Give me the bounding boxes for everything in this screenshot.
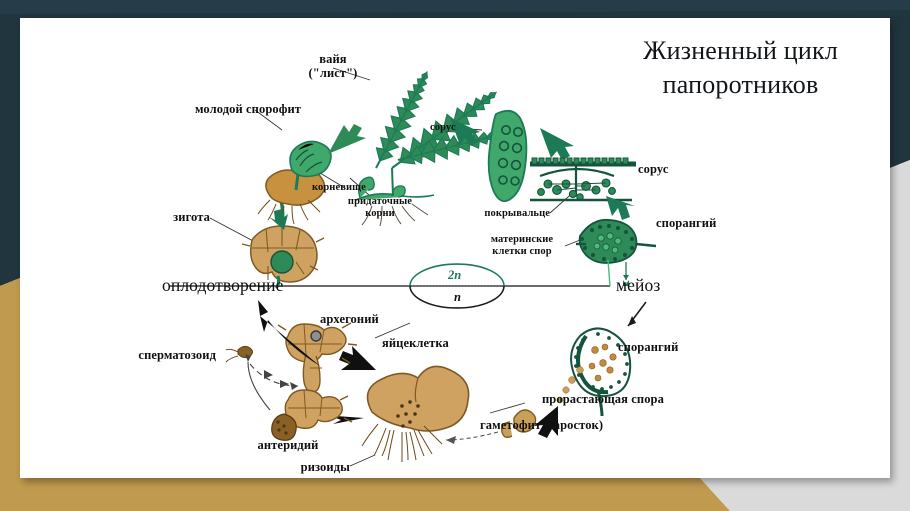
arrow-sporophyte-to-fern	[328, 124, 366, 154]
label-sporangium-right: спорангий	[618, 340, 678, 354]
slide-canvas: Жизненный цикл папоротников	[20, 18, 890, 478]
arrow-gametophyte-to-archegonium	[339, 346, 376, 370]
label-sorus-leaf: сорус	[430, 122, 456, 134]
gametophyte-prothallus	[331, 346, 469, 462]
label-vaya: вайя ("лист")	[309, 52, 358, 80]
label-spore-mother-cells: материнские клетки спор	[491, 234, 553, 258]
label-sorus-section: сорус	[638, 162, 669, 176]
label-zygote: зигота	[173, 210, 210, 224]
label-rhizome: корневище	[312, 182, 366, 194]
zygote-cell	[271, 251, 293, 273]
label-sporangium-top: спорангий	[656, 216, 716, 230]
ploidy-label-diploid: 2n	[448, 268, 461, 283]
life-cycle-illustration	[20, 18, 890, 478]
slide: Жизненный цикл папоротников	[0, 0, 910, 511]
antheridium	[272, 390, 352, 440]
label-antheridium: антеридий	[258, 438, 319, 452]
egg-cell-shape	[311, 331, 321, 341]
label-archegonium: архегоний	[320, 312, 379, 326]
label-meiosis: мейоз	[616, 276, 660, 296]
label-germinating-spore: прорастающая спора	[542, 392, 664, 406]
label-young-sporophyte: молодой спорофит	[195, 102, 301, 116]
ploidy-label-haploid: n	[454, 290, 461, 305]
label-gametophyte: гаметофит (заросток)	[480, 418, 603, 432]
label-adventitious-roots: придаточные корни	[348, 196, 412, 220]
label-fertilization: оплодотворение	[162, 276, 283, 296]
label-egg-cell: яйцеклетка	[382, 336, 449, 350]
label-spermatozoid: сперматозоид	[138, 348, 216, 362]
arrow-to-sorus-section	[540, 128, 574, 160]
label-rhizoids: ризоиды	[301, 460, 350, 474]
label-indusium: покрывальце	[484, 208, 550, 220]
